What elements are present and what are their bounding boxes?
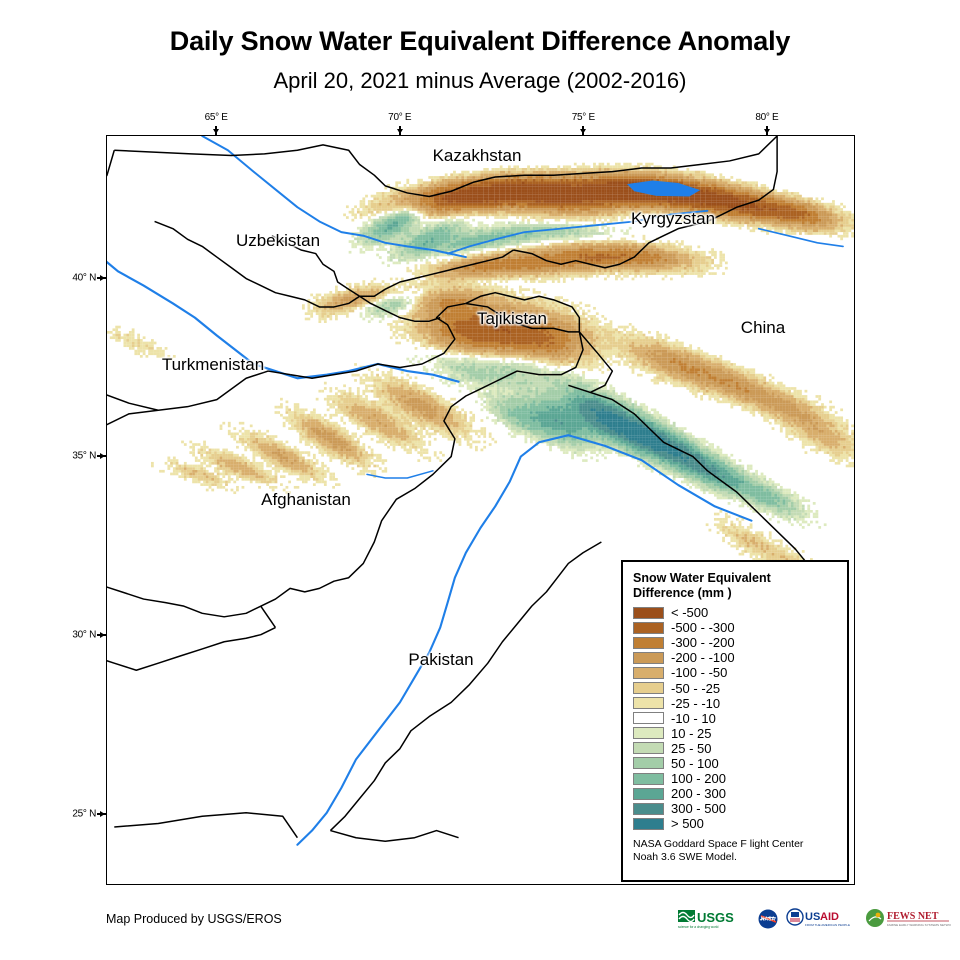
- map-page: Daily Snow Water Equivalent Difference A…: [0, 0, 960, 960]
- lon-label: 80° E: [755, 112, 778, 123]
- legend-title-line1: Snow Water Equivalent: [633, 571, 839, 586]
- legend-item: 100 - 200: [633, 771, 839, 786]
- legend-label: -500 - -300: [671, 621, 735, 634]
- legend-swatch: [633, 712, 664, 724]
- legend-label: -10 - 10: [671, 712, 716, 725]
- legend-item-list: < -500-500 - -300-300 - -200-200 - -100-…: [633, 605, 839, 831]
- legend-item: > 500: [633, 816, 839, 831]
- legend-item: -500 - -300: [633, 620, 839, 635]
- legend-item: -50 - -25: [633, 680, 839, 695]
- lon-tick-arrow: [580, 129, 586, 134]
- lon-tick-arrow: [213, 129, 219, 134]
- legend-title: Snow Water Equivalent Difference (mm ): [633, 571, 839, 601]
- legend-item: -300 - -200: [633, 635, 839, 650]
- lat-label: 35° N: [64, 451, 96, 462]
- legend-label: -50 - -25: [671, 682, 720, 695]
- fewsnet-logo: FEWS NET FAMINE EARLY WARNING SYSTEMS NE…: [865, 908, 951, 930]
- legend-swatch: [633, 803, 664, 815]
- lat-label: 25° N: [64, 808, 96, 819]
- legend-note-line1: NASA Goddard Space F light Center: [633, 838, 839, 851]
- legend-swatch: [633, 682, 664, 694]
- legend-note-line2: Noah 3.6 SWE Model.: [633, 851, 839, 864]
- coast-arabian-sea: [114, 813, 297, 838]
- lat-label: 40° N: [64, 272, 96, 283]
- border-india-south: [330, 831, 458, 842]
- legend-item: -100 - -50: [633, 665, 839, 680]
- lon-tick-arrow: [397, 129, 403, 134]
- legend-label: 25 - 50: [671, 742, 711, 755]
- legend-swatch: [633, 697, 664, 709]
- legend-label: 300 - 500: [671, 802, 726, 815]
- page-title: Daily Snow Water Equivalent Difference A…: [0, 26, 960, 57]
- lat-tick-arrow: [100, 275, 105, 281]
- border-uzbekistan-west: [107, 136, 114, 236]
- legend-item: < -500: [633, 605, 839, 620]
- legend-item: 50 - 100: [633, 756, 839, 771]
- legend-item: -25 - -10: [633, 696, 839, 711]
- lon-label: 65° E: [205, 112, 228, 123]
- legend-label: -300 - -200: [671, 636, 735, 649]
- legend-swatch: [633, 637, 664, 649]
- nasa-logo: NASA: [757, 908, 779, 930]
- legend-item: 10 - 25: [633, 726, 839, 741]
- border-iran-pakistan: [107, 571, 275, 671]
- legend-label: > 500: [671, 817, 704, 830]
- legend-source-note: NASA Goddard Space F light Center Noah 3…: [633, 838, 839, 864]
- legend-swatch: [633, 818, 664, 830]
- legend-item: -10 - 10: [633, 711, 839, 726]
- border-turkmenistan-south: [107, 243, 290, 410]
- legend-label: 10 - 25: [671, 727, 711, 740]
- legend-swatch: [633, 773, 664, 785]
- map-credit: Map Produced by USGS/EROS: [106, 912, 282, 926]
- legend-item: 300 - 500: [633, 801, 839, 816]
- legend-panel: Snow Water Equivalent Difference (mm ) <…: [621, 560, 849, 882]
- usgs-logo: USGS science for a changing world: [678, 908, 750, 930]
- river-kabul: [367, 471, 433, 478]
- legend-swatch: [633, 788, 664, 800]
- lat-tick-arrow: [100, 811, 105, 817]
- legend-swatch: [633, 652, 664, 664]
- lat-label: 30° N: [64, 630, 96, 641]
- legend-item: 200 - 300: [633, 786, 839, 801]
- border-pakistan-india-east: [330, 542, 601, 831]
- legend-title-line2: Difference (mm ): [633, 586, 839, 601]
- legend-label: -100 - -50: [671, 666, 727, 679]
- legend-label: -200 - -100: [671, 651, 735, 664]
- legend-swatch: [633, 607, 664, 619]
- border-iran-pakistan-link: [261, 606, 276, 627]
- legend-swatch: [633, 622, 664, 634]
- legend-label: 50 - 100: [671, 757, 719, 770]
- lat-tick-arrow: [100, 632, 105, 638]
- legend-label: 100 - 200: [671, 772, 726, 785]
- legend-item: 25 - 50: [633, 741, 839, 756]
- legend-swatch: [633, 757, 664, 769]
- legend-item: -200 - -100: [633, 650, 839, 665]
- lat-tick-arrow: [100, 453, 105, 459]
- lon-tick-arrow: [764, 129, 770, 134]
- lon-label: 75° E: [572, 112, 595, 123]
- agency-logo-strip: USGS science for a changing world NASA U…: [678, 908, 951, 930]
- legend-swatch: [633, 667, 664, 679]
- usaid-logo: US AID FROM THE AMERICAN PEOPLE: [786, 908, 858, 930]
- legend-label: -25 - -10: [671, 697, 720, 710]
- page-subtitle: April 20, 2021 minus Average (2002-2016): [0, 68, 960, 94]
- lon-label: 70° E: [388, 112, 411, 123]
- legend-label: 200 - 300: [671, 787, 726, 800]
- legend-swatch: [633, 742, 664, 754]
- legend-label: < -500: [671, 606, 708, 619]
- legend-swatch: [633, 727, 664, 739]
